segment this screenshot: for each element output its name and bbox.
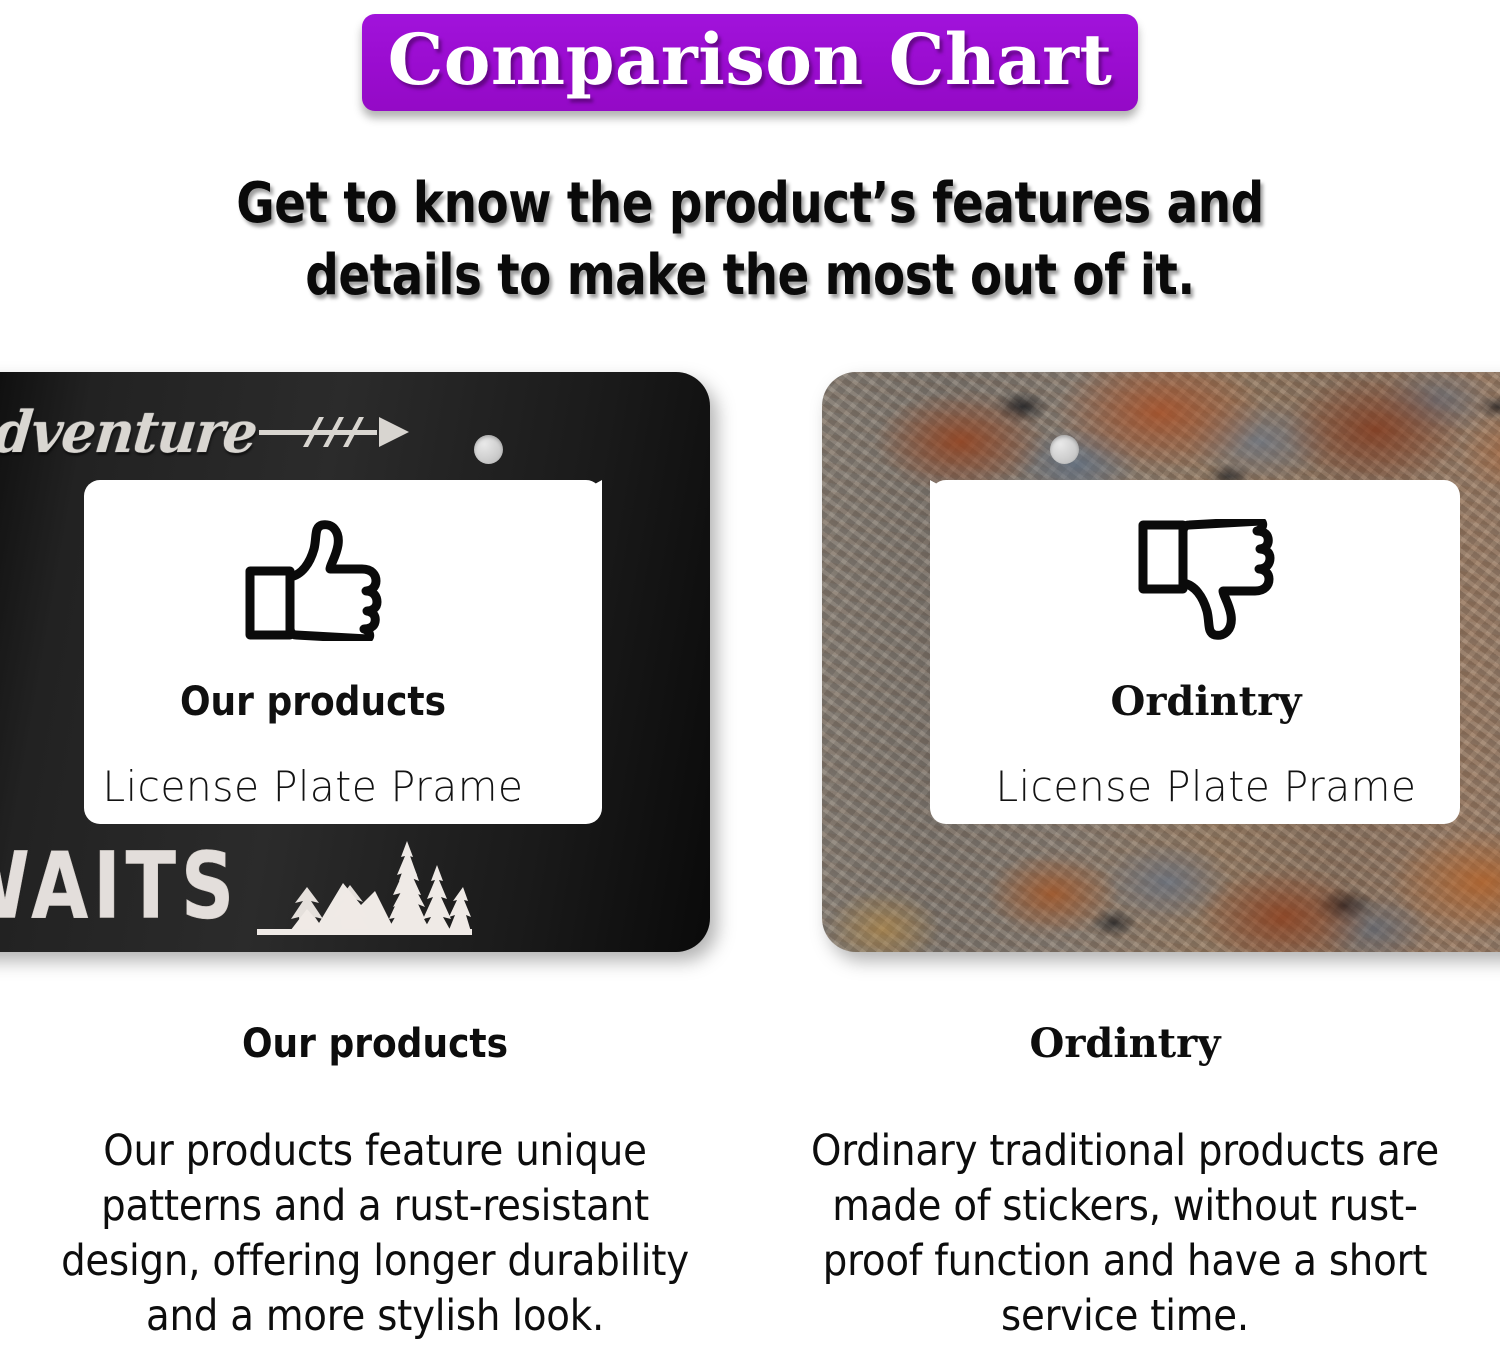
ordinary-product-label: License Plate Prame (996, 764, 1417, 810)
our-frame-content: Our products License Plate Prame (0, 372, 710, 952)
comparison-text-row: Our products Our products feature unique… (0, 1022, 1500, 1362)
ordinary-product-frame: Ordintry License Plate Prame (822, 372, 1500, 952)
comparison-heading-ordinary: Ordintry (784, 1022, 1466, 1066)
product-frames-row: Adventure AWAITS (0, 360, 1500, 970)
page-title: Comparison Chart (388, 20, 1113, 99)
our-product-frame: Adventure AWAITS (0, 372, 710, 952)
comparison-heading-ours: Our products (34, 1022, 716, 1066)
title-banner-wrap: Comparison Chart (0, 14, 1500, 111)
page-subtitle: Get to know the product’s features and d… (53, 168, 1448, 311)
comparison-column-ordinary: Ordintry Ordinary traditional products a… (750, 1022, 1500, 1362)
our-product-label: License Plate Prame (103, 764, 524, 810)
title-banner: Comparison Chart (362, 14, 1139, 111)
comparison-chart-page: Comparison Chart Get to know the product… (0, 0, 1500, 1364)
subtitle-line-1: Get to know the product’s features and (53, 168, 1448, 240)
thumbs-down-icon (1137, 519, 1275, 646)
ordinary-frame-content: Ordintry License Plate Prame (822, 372, 1500, 952)
our-brand-label: Our products (180, 680, 446, 724)
ordinary-brand-label: Ordintry (1111, 680, 1302, 724)
thumbs-up-icon (244, 519, 382, 646)
comparison-column-ours: Our products Our products feature unique… (0, 1022, 750, 1362)
comparison-body-ours: Our products feature unique patterns and… (34, 1124, 716, 1344)
subtitle-line-2: details to make the most out of it. (53, 240, 1448, 312)
comparison-body-ordinary: Ordinary traditional products are made o… (784, 1124, 1466, 1344)
